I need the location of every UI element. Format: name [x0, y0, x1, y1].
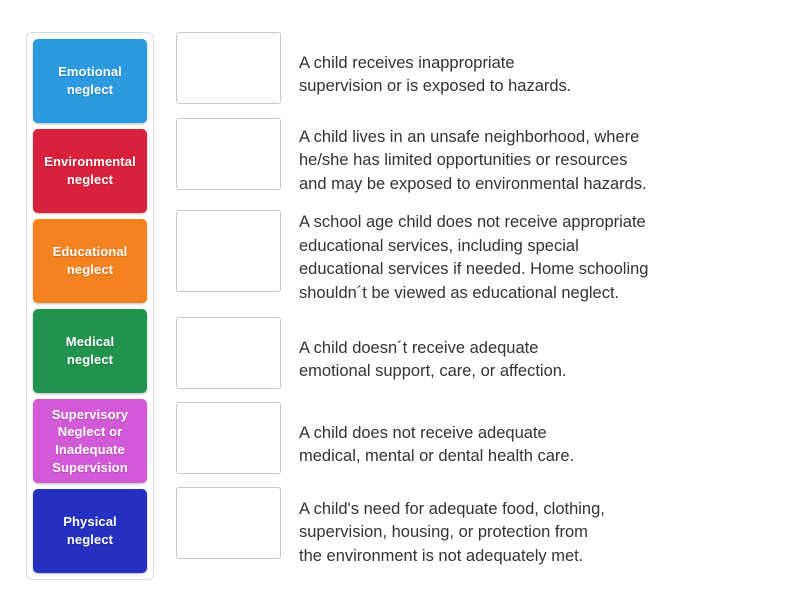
dropzone[interactable]	[176, 210, 281, 292]
tile-label: Environmental neglect	[44, 153, 136, 188]
tile-label: Emotional neglect	[58, 63, 122, 98]
tile-label: Educational neglect	[53, 243, 128, 278]
tile-educational-neglect[interactable]: Educational neglect	[33, 219, 147, 303]
definition-text: A child does not receive adequate medica…	[299, 402, 776, 469]
dropzone[interactable]	[176, 32, 281, 104]
definition-text: A child lives in an unsafe neighborhood,…	[299, 118, 776, 196]
definition-text: A child receives inappropriate supervisi…	[299, 32, 776, 99]
dropzone[interactable]	[176, 487, 281, 559]
match-row: A child lives in an unsafe neighborhood,…	[176, 118, 776, 196]
match-row: A child's need for adequate food, clothi…	[176, 487, 776, 568]
match-up-activity: Emotional neglect Environmental neglect …	[0, 0, 800, 600]
dropzone[interactable]	[176, 317, 281, 389]
tile-label: Supervisory Neglect or Inadequate Superv…	[52, 406, 128, 476]
tile-label: Medical neglect	[66, 333, 114, 368]
tile-physical-neglect[interactable]: Physical neglect	[33, 489, 147, 573]
dropzone[interactable]	[176, 402, 281, 474]
tile-medical-neglect[interactable]: Medical neglect	[33, 309, 147, 393]
definition-text: A school age child does not receive appr…	[299, 210, 776, 305]
match-row: A school age child does not receive appr…	[176, 210, 776, 305]
tile-environmental-neglect[interactable]: Environmental neglect	[33, 129, 147, 213]
match-row: A child receives inappropriate supervisi…	[176, 32, 776, 104]
match-row: A child doesn´t receive adequate emotion…	[176, 317, 776, 389]
dropzone[interactable]	[176, 118, 281, 190]
tile-supervisory-neglect[interactable]: Supervisory Neglect or Inadequate Superv…	[33, 399, 147, 483]
match-row: A child does not receive adequate medica…	[176, 402, 776, 474]
definition-text: A child doesn´t receive adequate emotion…	[299, 317, 776, 384]
draggable-answer-tiles: Emotional neglect Environmental neglect …	[26, 32, 154, 580]
tile-emotional-neglect[interactable]: Emotional neglect	[33, 39, 147, 123]
tile-label: Physical neglect	[63, 513, 117, 548]
definition-text: A child's need for adequate food, clothi…	[299, 487, 776, 568]
definition-rows: A child receives inappropriate supervisi…	[176, 32, 776, 580]
